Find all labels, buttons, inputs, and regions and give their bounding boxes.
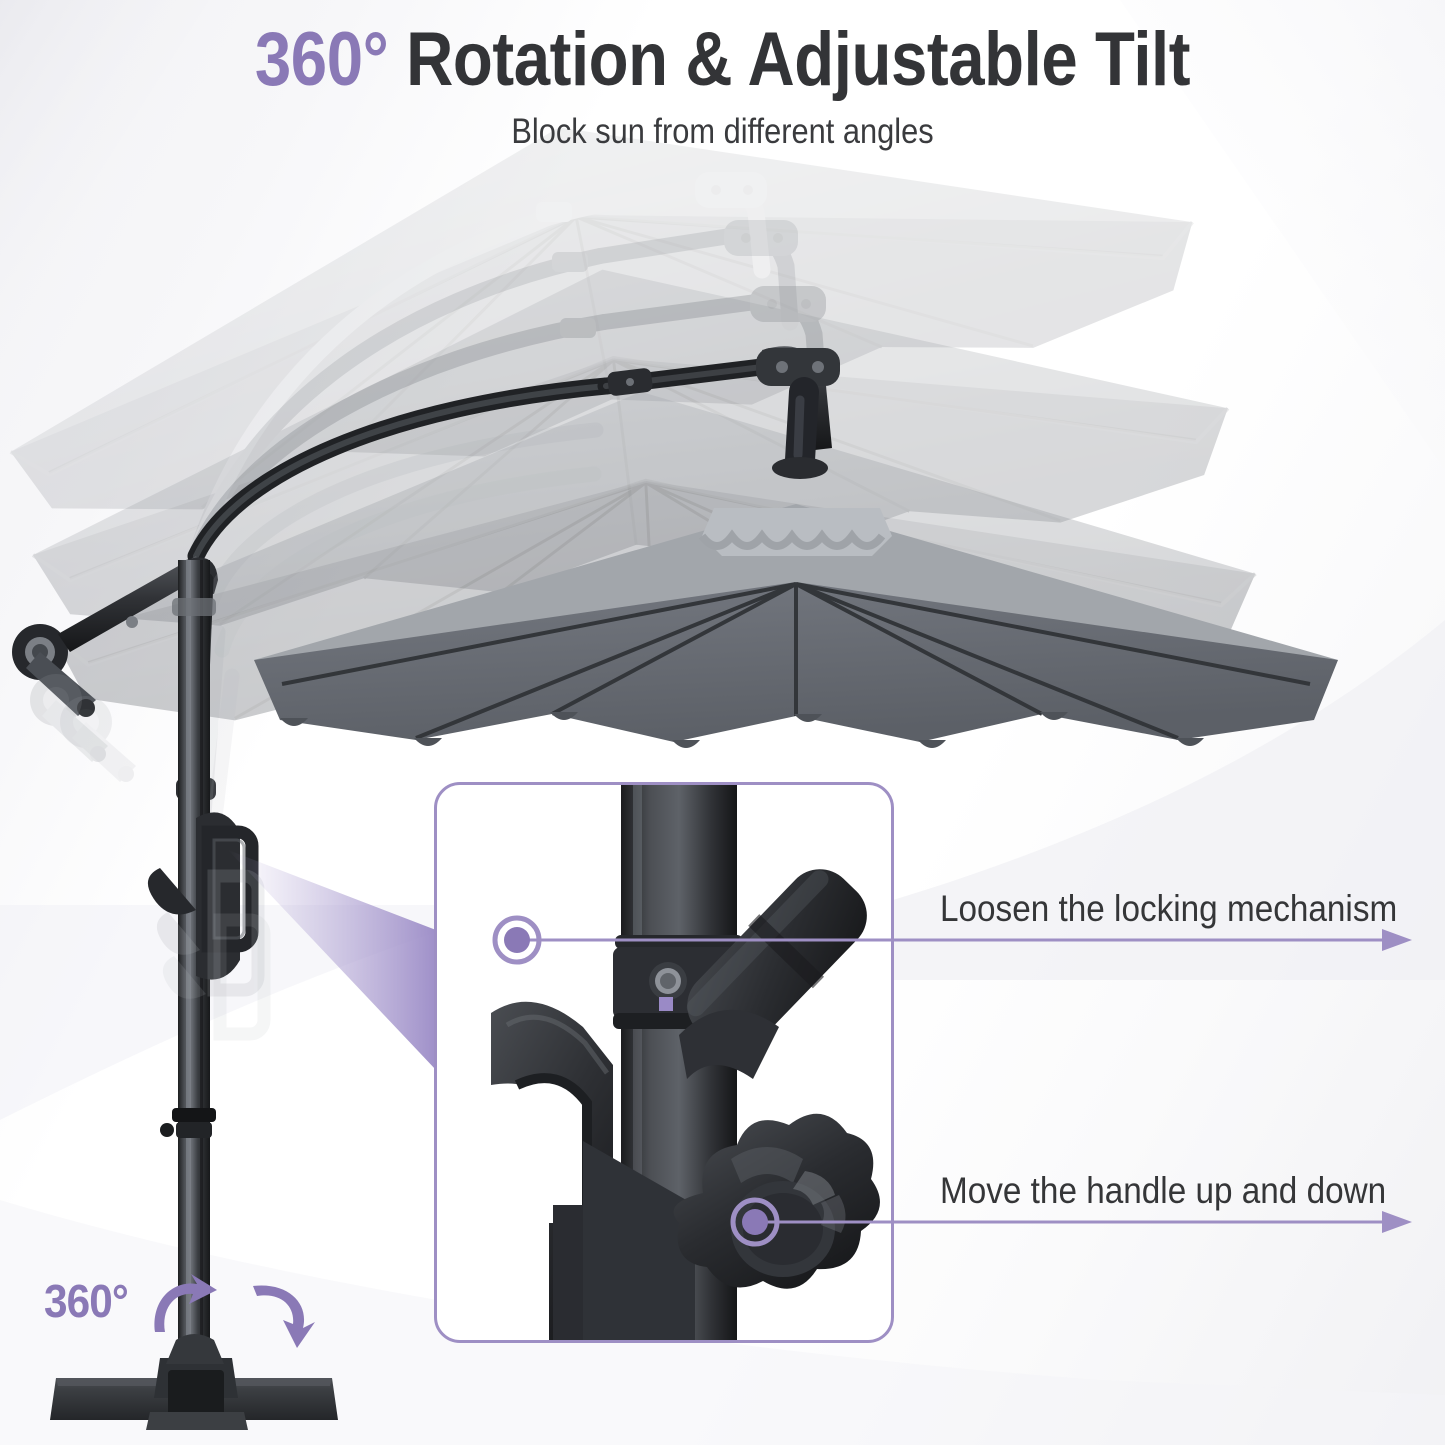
rotation-badge: 360° xyxy=(44,1278,135,1324)
callout-handle: Move the handle up and down xyxy=(940,1150,1410,1222)
hotspot-markers xyxy=(0,0,1445,1445)
callout-loosen: Loosen the locking mechanism xyxy=(940,868,1410,940)
rotate-right-arrow-icon xyxy=(155,1274,217,1332)
hotspot-marker-icon xyxy=(733,1200,777,1244)
callout-loosen-label: Loosen the locking mechanism xyxy=(940,888,1397,930)
rotation-badge-label: 360° xyxy=(44,1278,128,1324)
hotspot-marker-icon xyxy=(495,918,539,962)
rotate-left-arrow-icon xyxy=(253,1286,315,1348)
callout-handle-label: Move the handle up and down xyxy=(940,1170,1386,1212)
rotation-arrows xyxy=(145,1270,325,1355)
infographic-canvas: 360° Rotation & Adjustable Tilt Block su… xyxy=(0,0,1445,1445)
